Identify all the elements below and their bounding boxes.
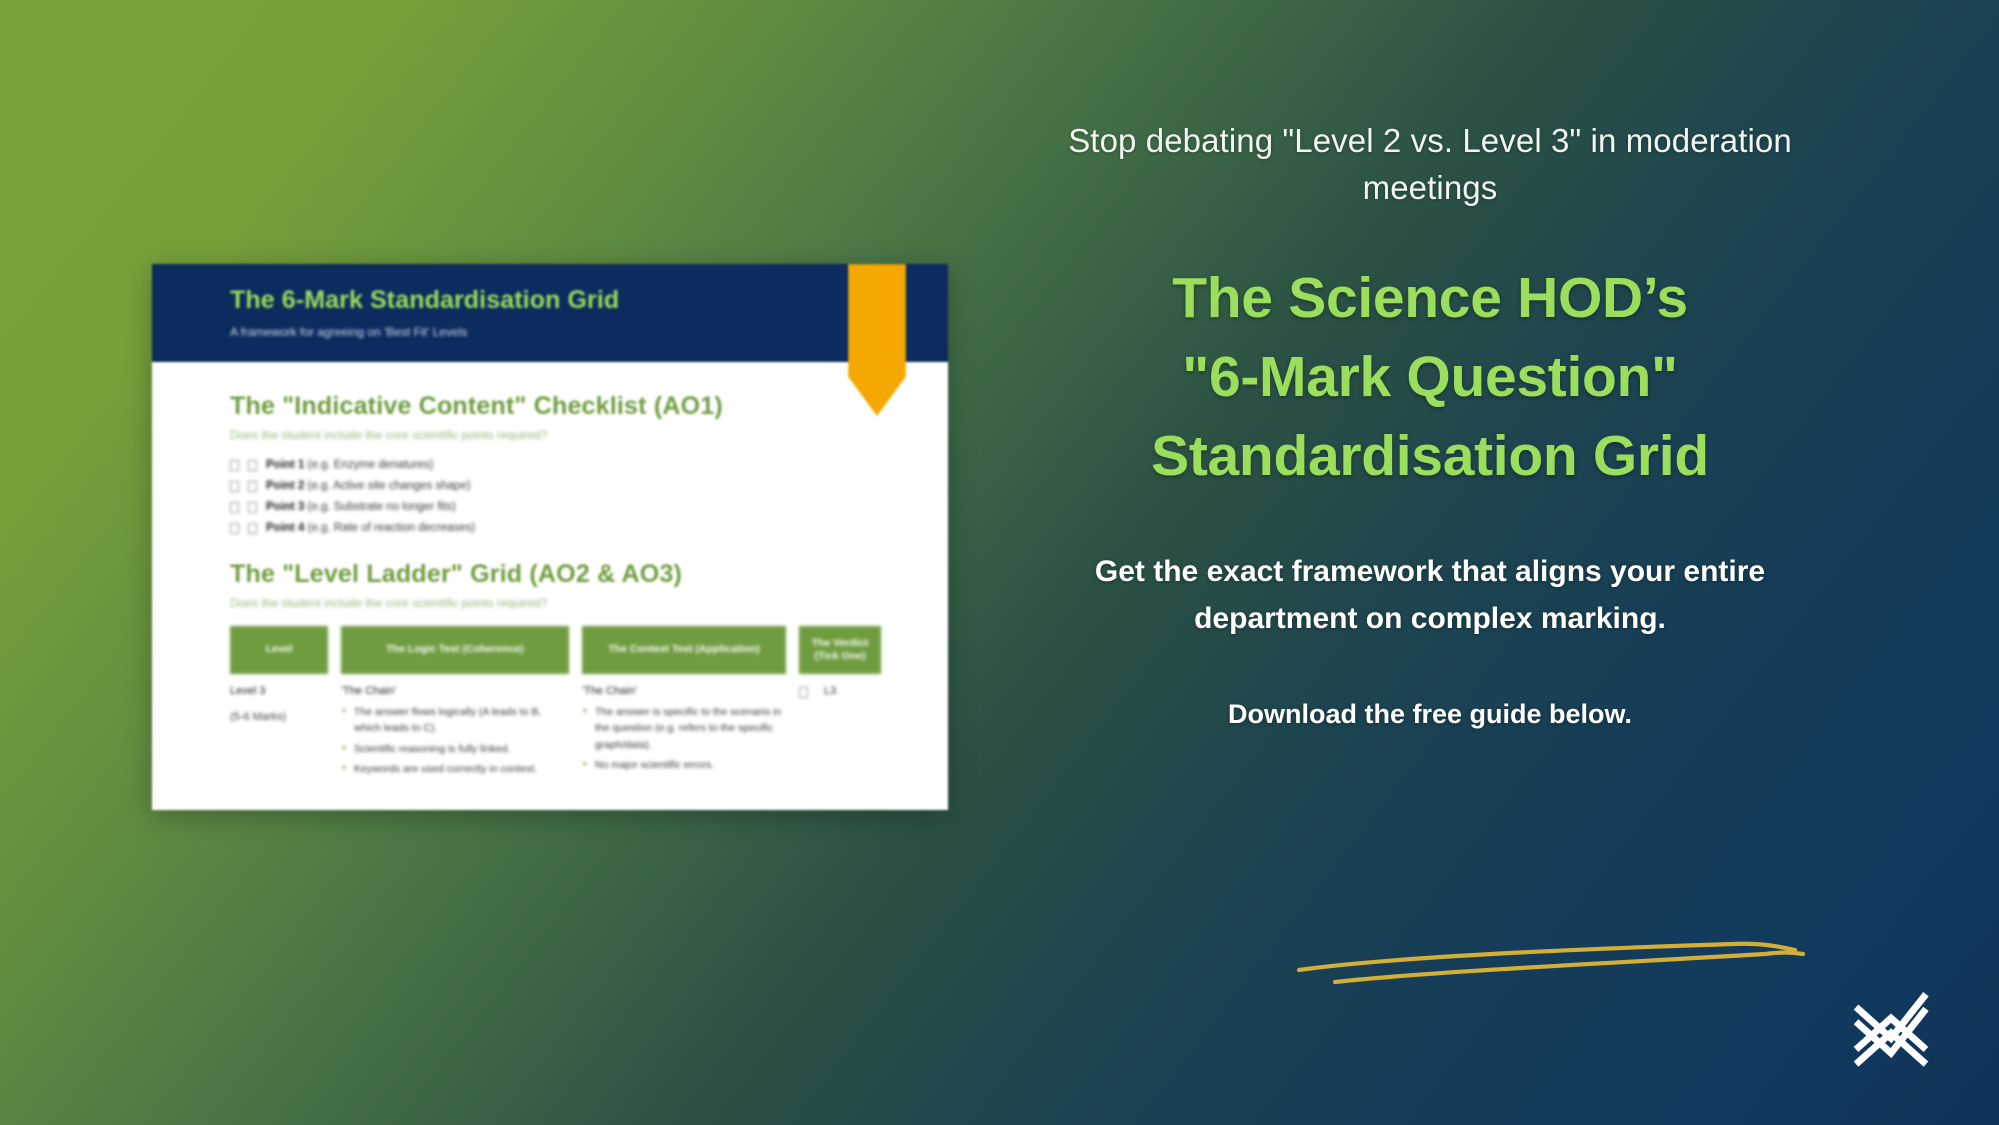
eyebrow-text: Stop debating "Level 2 vs. Level 3" in m… (1050, 118, 1810, 212)
checkbox-icon[interactable] (230, 481, 239, 492)
bullet: No major scientific errors. (582, 757, 786, 773)
checkbox-icon[interactable] (248, 502, 257, 513)
column-header-verdict: The Verdict (Tick One) (799, 626, 881, 674)
list-item-label: Point 2 (e.g. Active site changes shape) (266, 480, 471, 492)
bullet: Scientific reasoning is fully linked. (341, 741, 569, 757)
headline-line-1: The Science HOD’s (1050, 259, 1810, 338)
headline-line-2: "6-Mark Question" (1050, 338, 1810, 417)
verdict-label: L3 (824, 685, 836, 781)
checkbox-icon[interactable] (230, 460, 239, 471)
level-marks: (5-6 Marks) (230, 711, 328, 723)
cell-context-test: 'The Chain' The answer is specific to th… (582, 685, 786, 781)
checklist-subheading: Does the student include the core scient… (230, 428, 948, 442)
document-preview-card[interactable]: The 6-Mark Standardisation Grid A framew… (152, 264, 948, 810)
x-chevron-logo-icon[interactable] (1845, 985, 1937, 1077)
checkbox-icon[interactable] (799, 687, 808, 698)
column-header-context-test: The Context Test (Application) (582, 626, 786, 674)
column-header-logic-test: The Logic Test (Coherence) (341, 626, 569, 674)
table-row: Level 3 (5-6 Marks) 'The Chain' The answ… (230, 685, 948, 781)
list-item-label: Point 4 (e.g. Rate of reaction decreases… (266, 522, 475, 534)
logic-label: 'The Chain' (341, 685, 569, 697)
column-header-level: Level (230, 626, 328, 674)
ladder-heading: The "Level Ladder" Grid (AO2 & AO3) (230, 560, 948, 589)
cell-verdict[interactable]: L3 (799, 685, 881, 781)
list-item[interactable]: Point 2 (e.g. Active site changes shape) (230, 480, 948, 492)
checkbox-icon[interactable] (230, 502, 239, 513)
list-item-label: Point 1 (e.g. Enzyme denatures) (266, 459, 433, 471)
indicative-content-section: The "Indicative Content" Checklist (AO1)… (230, 392, 948, 534)
document-card-header: The 6-Mark Standardisation Grid A framew… (152, 264, 948, 362)
level-ladder-section: The "Level Ladder" Grid (AO2 & AO3) Does… (230, 560, 948, 781)
level-name: Level 3 (230, 685, 328, 697)
grid-header-row: Level The Logic Test (Coherence) The Con… (230, 626, 948, 674)
checkbox-icon[interactable] (230, 523, 239, 534)
list-item[interactable]: Point 3 (e.g. Substrate no longer fits) (230, 501, 948, 513)
headline-line-3: Standardisation Grid (1050, 417, 1810, 496)
cell-level: Level 3 (5-6 Marks) (230, 685, 328, 781)
document-card-body: The "Indicative Content" Checklist (AO1)… (152, 362, 948, 781)
context-label: 'The Chain' (582, 685, 786, 697)
underline-swoosh-icon (1295, 938, 1815, 984)
checkbox-icon[interactable] (248, 523, 257, 534)
ladder-subheading: Does the student include the core scient… (230, 596, 948, 610)
checklist: Point 1 (e.g. Enzyme denatures) Point 2 … (230, 459, 948, 534)
bullet: The answer flows logically (A leads to B… (341, 704, 569, 737)
marketing-copy: Stop debating "Level 2 vs. Level 3" in m… (1050, 118, 1810, 730)
document-subtitle: A framework for agreeing on 'Best Fit' L… (230, 325, 948, 339)
bullet: The answer is specific to the scenario i… (582, 704, 786, 753)
list-item-label: Point 3 (e.g. Substrate no longer fits) (266, 501, 456, 513)
list-item[interactable]: Point 1 (e.g. Enzyme denatures) (230, 459, 948, 471)
list-item[interactable]: Point 4 (e.g. Rate of reaction decreases… (230, 522, 948, 534)
cta-text: Download the free guide below. (1050, 699, 1810, 730)
checkbox-icon[interactable] (248, 481, 257, 492)
subcopy-text: Get the exact framework that aligns your… (1050, 549, 1810, 643)
page-title: The Science HOD’s "6-Mark Question" Stan… (1050, 259, 1810, 497)
checkbox-icon[interactable] (248, 460, 257, 471)
checklist-heading: The "Indicative Content" Checklist (AO1) (230, 392, 948, 421)
cell-logic-test: 'The Chain' The answer flows logically (… (341, 685, 569, 781)
bullet: Keywords are used correctly in context. (341, 761, 569, 777)
document-title: The 6-Mark Standardisation Grid (230, 286, 948, 315)
